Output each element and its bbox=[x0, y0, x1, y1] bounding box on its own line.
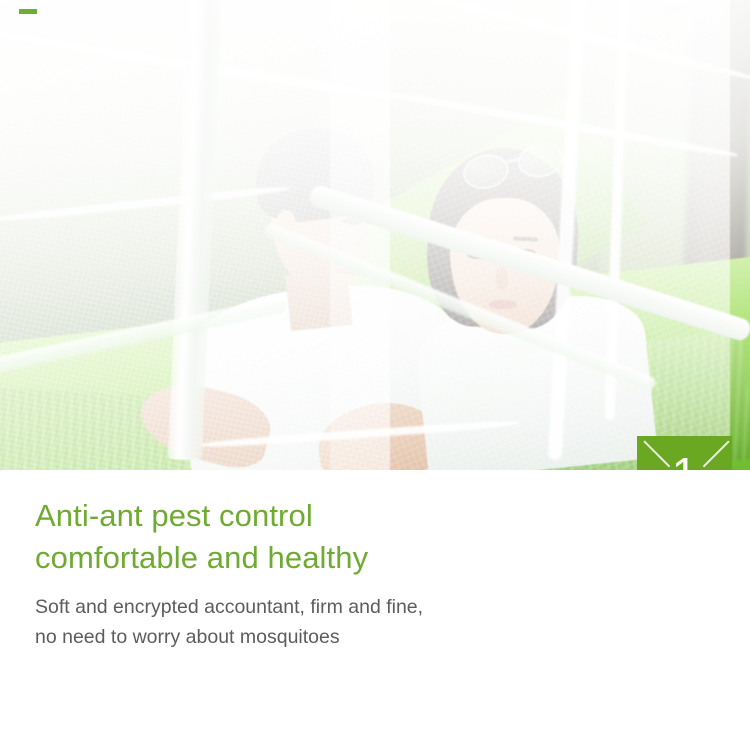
subcopy-line-2: no need to worry about mosquitoes bbox=[35, 622, 655, 652]
hero-photo bbox=[0, 0, 750, 470]
product-feature-page: 1 Anti-ant pest control comfortable and … bbox=[0, 0, 750, 750]
feature-headline: Anti-ant pest control comfortable and he… bbox=[35, 495, 635, 579]
badge-number: 1 bbox=[672, 451, 698, 497]
green-dash-icon bbox=[18, 8, 38, 15]
mosquito-net-right-panel bbox=[330, 0, 730, 470]
headline-line-2: comfortable and healthy bbox=[35, 537, 635, 579]
subcopy-line-1: Soft and encrypted accountant, firm and … bbox=[35, 592, 655, 622]
corner-bracket-icon bbox=[701, 441, 727, 467]
corner-bracket-icon bbox=[642, 441, 668, 467]
feature-text-block: Anti-ant pest control comfortable and he… bbox=[0, 470, 750, 750]
headline-line-1: Anti-ant pest control bbox=[35, 495, 635, 537]
feature-subcopy: Soft and encrypted accountant, firm and … bbox=[35, 592, 655, 652]
